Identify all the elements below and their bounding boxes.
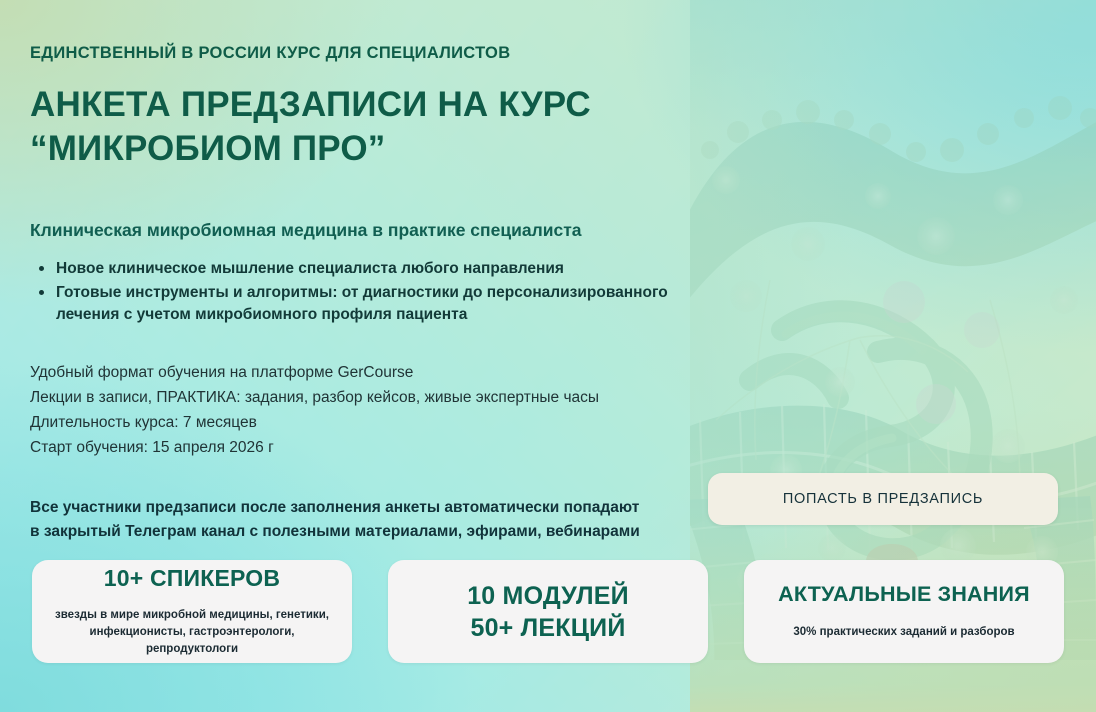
card-subtitle: звезды в мире микробной медицины, генети… [46,607,338,658]
content-column: ЕДИНСТВЕННЫЙ В РОССИИ КУРС ДЛЯ СПЕЦИАЛИС… [30,44,710,543]
join-prerecord-button[interactable]: ПОПАСТЬ В ПРЕДЗАПИСЬ [708,473,1058,525]
feature-cards: 10+ СПИКЕРОВ звезды в мире микробной мед… [32,560,1064,663]
card-title-line-2: 50+ ЛЕКЦИЙ [467,612,629,644]
telegram-note-line-1: Все участники предзаписи после заполнени… [30,496,710,520]
card-subtitle: 30% практических заданий и разборов [793,624,1014,641]
card-title: 10+ СПИКЕРОВ [104,565,280,593]
feature-card-modules: 10 МОДУЛЕЙ 50+ ЛЕКЦИЙ [388,560,708,663]
detail-lectures: Лекции в записи, ПРАКТИКА: задания, разб… [30,385,710,410]
page-title-line-2: “МИКРОБИОМ ПРО” [30,127,710,171]
subtitle-text: Клиническая микробиомная медицина в прак… [30,219,710,242]
telegram-note: Все участники предзаписи после заполнени… [30,496,710,543]
card-title-line-1: 10 МОДУЛЕЙ [467,580,629,612]
card-title: 10 МОДУЛЕЙ 50+ ЛЕКЦИЙ [467,580,629,644]
card-subtitle-line-1: звезды в мире микробной медицины, генети… [46,607,338,624]
page-title-line-1: АНКЕТА ПРЕДЗАПИСИ НА КУРС [30,83,710,127]
page-title: АНКЕТА ПРЕДЗАПИСИ НА КУРС “МИКРОБИОМ ПРО… [30,83,710,171]
detail-format: Удобный формат обучения на платформе Ger… [30,360,710,385]
benefits-list: Новое клиническое мышление специалиста л… [30,258,710,326]
list-item: Новое клиническое мышление специалиста л… [30,258,710,280]
landing-page: ЕДИНСТВЕННЫЙ В РОССИИ КУРС ДЛЯ СПЕЦИАЛИС… [0,0,1096,712]
eyebrow-text: ЕДИНСТВЕННЫЙ В РОССИИ КУРС ДЛЯ СПЕЦИАЛИС… [30,44,710,64]
telegram-note-line-2: в закрытый Телеграм канал с полезными ма… [30,520,710,544]
card-title: АКТУАЛЬНЫЕ ЗНАНИЯ [778,582,1030,608]
detail-start: Старт обучения: 15 апреля 2026 г [30,435,710,460]
card-subtitle-line-2: инфекционисты, гастроэнтерологи, репроду… [46,624,338,658]
feature-card-speakers: 10+ СПИКЕРОВ звезды в мире микробной мед… [32,560,352,663]
detail-duration: Длительность курса: 7 месяцев [30,410,710,435]
list-item: Готовые инструменты и алгоритмы: от диаг… [30,282,710,326]
card-subtitle-line-1: 30% практических заданий и разборов [793,624,1014,641]
card-title-line-1: АКТУАЛЬНЫЕ ЗНАНИЯ [778,582,1030,608]
course-details: Удобный формат обучения на платформе Ger… [30,360,710,460]
feature-card-knowledge: АКТУАЛЬНЫЕ ЗНАНИЯ 30% практических задан… [744,560,1064,663]
card-title-line-1: 10+ СПИКЕРОВ [104,565,280,593]
